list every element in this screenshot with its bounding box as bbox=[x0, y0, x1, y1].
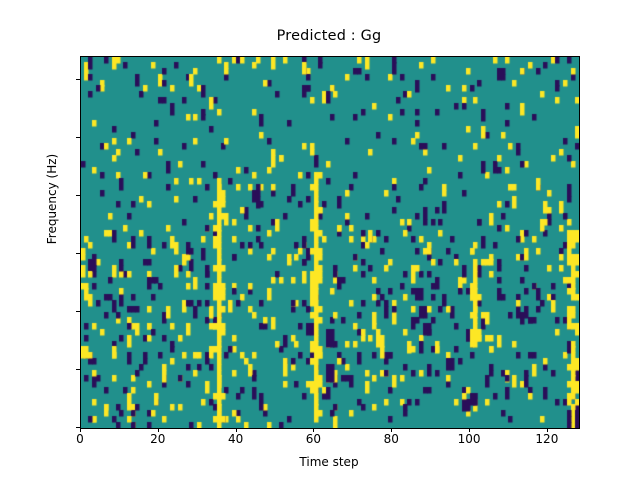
x-tick-label: 60 bbox=[273, 432, 353, 446]
x-tick-label: 100 bbox=[429, 432, 509, 446]
y-axis-label: Frequency (Hz) bbox=[45, 99, 59, 299]
heatmap-canvas bbox=[81, 57, 579, 428]
chart-title: Predicted : Gg bbox=[80, 28, 578, 44]
x-tick-label: 120 bbox=[507, 432, 587, 446]
x-tick-label: 80 bbox=[351, 432, 431, 446]
x-tick-label: 40 bbox=[196, 432, 276, 446]
x-axis-label: Time step bbox=[80, 455, 578, 469]
x-tick-label: 20 bbox=[118, 432, 198, 446]
x-tick-label: 0 bbox=[40, 432, 120, 446]
heatmap-plot-area bbox=[80, 56, 580, 429]
matplotlib-figure: Predicted : Gg Frequency (Hz) Time step … bbox=[0, 0, 640, 480]
